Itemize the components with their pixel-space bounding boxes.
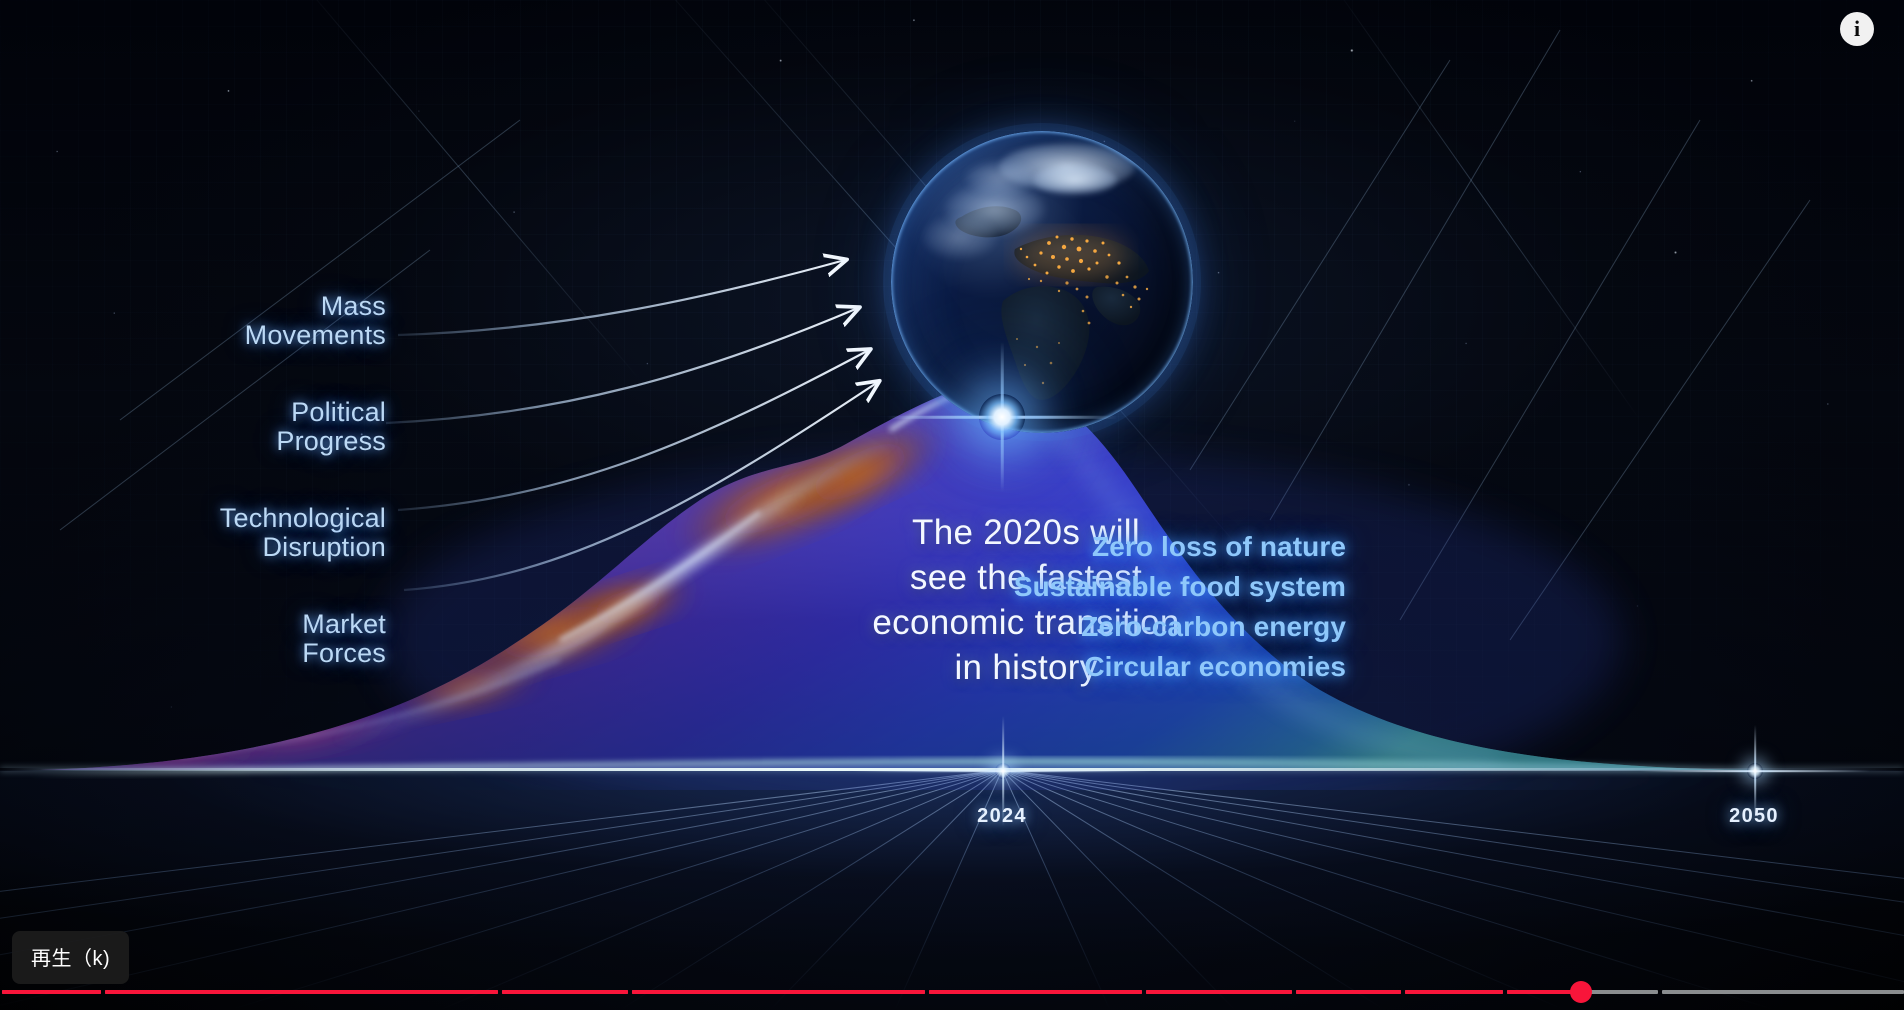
progress-chapter-fill [502, 990, 628, 994]
driver-label-market-forces: Market Forces [86, 610, 386, 668]
progress-chapter-fill [929, 990, 1142, 994]
progress-chapter-fill [1296, 990, 1401, 994]
driver-label-mass-movements: Mass Movements [126, 292, 386, 350]
outcome-zero-loss-of-nature: Zero loss of nature [1014, 527, 1346, 567]
perspective-floor [0, 770, 1904, 1010]
info-glyph: i [1854, 18, 1860, 40]
earth-globe-icon [891, 131, 1193, 433]
year-label-2024: 2024 [977, 805, 1027, 828]
progress-chapter-6[interactable] [1146, 990, 1292, 994]
outcome-circular-economies: Circular economies [1014, 647, 1346, 687]
year-label-2050: 2050 [1729, 805, 1779, 828]
info-icon[interactable]: i [1840, 12, 1874, 46]
globe-rim-light [891, 131, 1193, 433]
progress-chapter-5[interactable] [929, 990, 1142, 994]
progress-chapter-2[interactable] [105, 990, 498, 994]
video-progress-bar[interactable] [0, 985, 1904, 999]
outcomes-list: Zero loss of nature Sustainable food sys… [1014, 527, 1346, 687]
progress-chapter-7[interactable] [1296, 990, 1401, 994]
progress-chapter-fill [632, 990, 925, 994]
progress-chapter-8[interactable] [1405, 990, 1503, 994]
progress-chapter-10[interactable] [1662, 990, 1904, 994]
progress-chapter-fill [105, 990, 498, 994]
progress-chapter-fill [1405, 990, 1503, 994]
outcome-sustainable-food-system: Sustainable food system [1014, 567, 1346, 607]
progress-chapter-1[interactable] [2, 990, 101, 994]
driver-label-technological-disruption: Technological Disruption [86, 504, 386, 562]
outcome-zero-carbon-energy: Zero-carbon energy [1014, 607, 1346, 647]
progress-scrubber-handle[interactable] [1570, 981, 1592, 1003]
progress-chapter-4[interactable] [632, 990, 925, 994]
progress-chapter-fill [1146, 990, 1292, 994]
video-player-stage: Mass Movements Political Progress Techno… [0, 0, 1904, 1010]
play-button-tooltip: 再生（k) [12, 931, 129, 984]
progress-chapter-fill [2, 990, 101, 994]
driver-label-political-progress: Political Progress [126, 398, 386, 456]
progress-chapter-3[interactable] [502, 990, 628, 994]
